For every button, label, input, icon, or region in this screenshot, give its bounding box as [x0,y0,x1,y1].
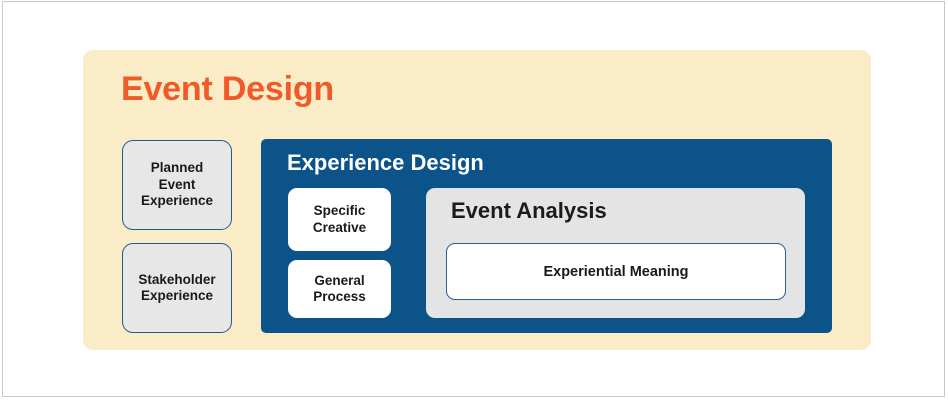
event-design-panel: Event Design Planned Event Experience St… [83,50,871,350]
box-planned-event-experience-label: Planned Event Experience [141,160,213,209]
box-experiential-meaning: Experiential Meaning [446,243,786,300]
box-general-process-label: General Process [313,273,366,306]
page-frame: Event Design Planned Event Experience St… [2,1,945,397]
box-specific-creative-label: Specific Creative [313,203,366,236]
box-stakeholder-experience-label: Stakeholder Experience [138,272,215,305]
event-analysis-panel: Event Analysis Experiential Meaning [426,188,805,318]
box-experiential-meaning-label: Experiential Meaning [543,264,688,280]
box-specific-creative: Specific Creative [288,188,391,251]
event-analysis-title: Event Analysis [451,198,607,224]
experience-design-panel: Experience Design Specific Creative Gene… [261,139,832,333]
box-planned-event-experience: Planned Event Experience [122,140,232,230]
box-stakeholder-experience: Stakeholder Experience [122,243,232,333]
box-general-process: General Process [288,260,391,318]
page-title: Event Design [121,70,334,109]
experience-design-title: Experience Design [287,150,484,176]
